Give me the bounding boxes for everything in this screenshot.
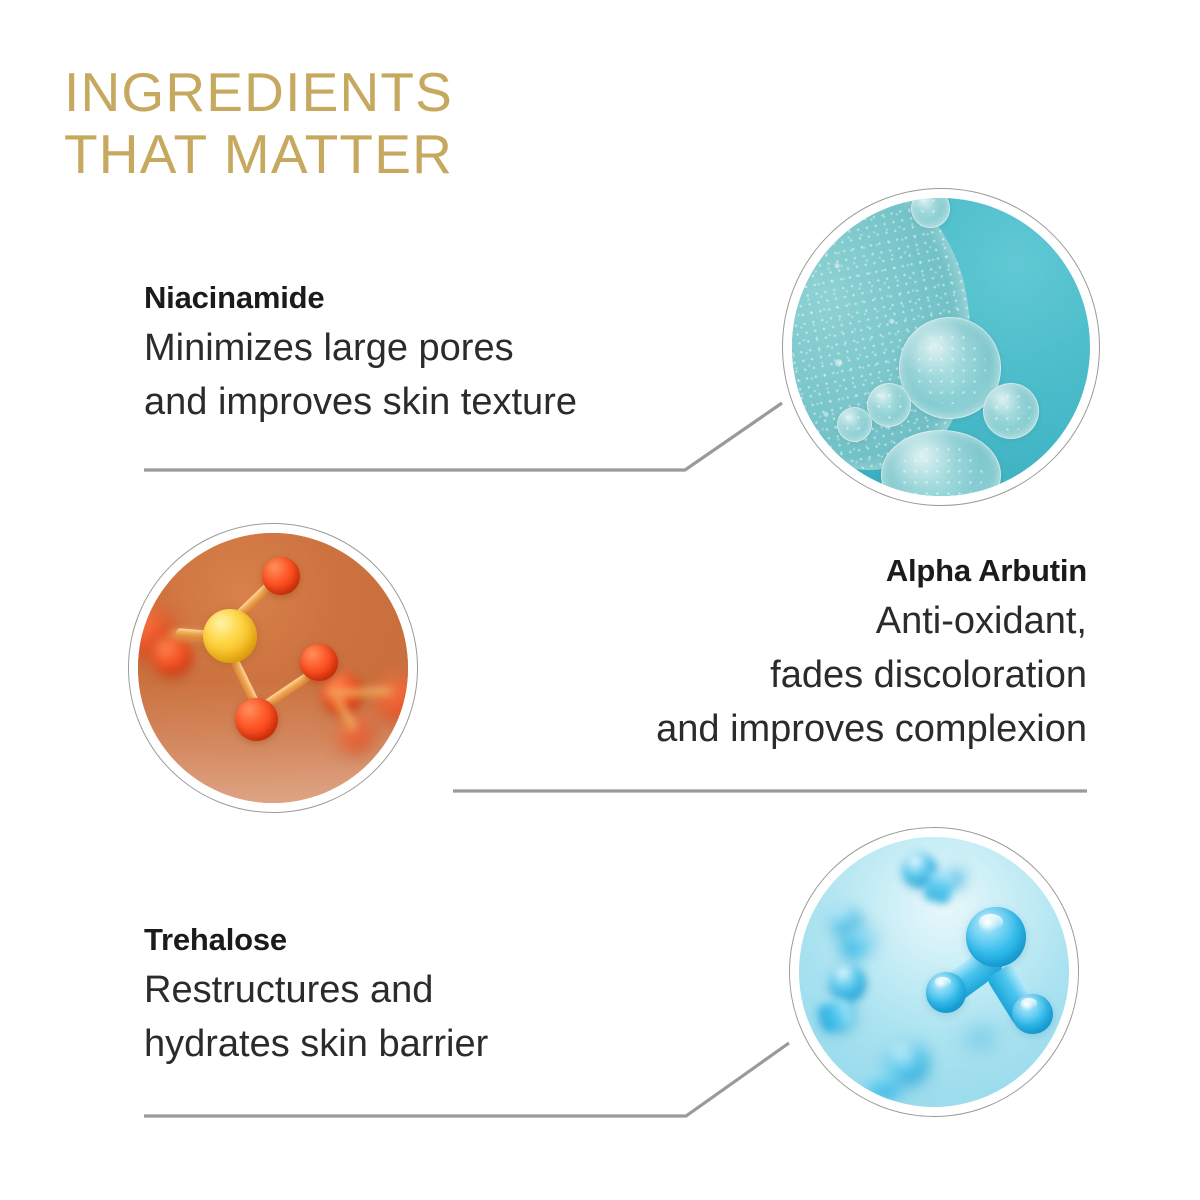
molecule-atom bbox=[300, 644, 338, 682]
molecule-atom bbox=[829, 964, 867, 1002]
ingredient-block-niacinamide: Niacinamide Minimizes large pores and im… bbox=[144, 280, 784, 430]
liquid-bubbles-macro-photo bbox=[792, 198, 1090, 496]
molecule-atom bbox=[966, 907, 1025, 966]
ingredient-name: Alpha Arbutin bbox=[427, 553, 1087, 589]
ingredient-name: Niacinamide bbox=[144, 280, 784, 316]
ingredients-infographic: INGREDIENTS THAT MATTER Niacinamide Mini… bbox=[0, 0, 1200, 1200]
molecule-atom bbox=[262, 557, 300, 595]
molecule-atom bbox=[235, 698, 278, 741]
ingredient-description: Restructures and hydrates skin barrier bbox=[144, 964, 764, 1072]
ingredient-description: Minimizes large pores and improves skin … bbox=[144, 322, 784, 430]
ingredient-image-alpha-arbutin bbox=[128, 523, 418, 813]
molecule-center-atom bbox=[203, 609, 257, 663]
molecule-atom bbox=[152, 636, 193, 677]
blue-molecule-render bbox=[799, 837, 1069, 1107]
orange-molecule-render bbox=[138, 533, 408, 803]
molecule-atom bbox=[966, 1026, 990, 1045]
ingredient-block-trehalose: Trehalose Restructures and hydrates skin… bbox=[144, 922, 764, 1072]
ingredient-block-alpha-arbutin: Alpha Arbutin Anti-oxidant, fades discol… bbox=[427, 553, 1087, 757]
ingredient-name: Trehalose bbox=[144, 922, 764, 958]
ingredient-description: Anti-oxidant, fades discoloration and im… bbox=[427, 595, 1087, 757]
ingredient-image-trehalose bbox=[789, 827, 1079, 1117]
molecule-atom bbox=[1012, 994, 1053, 1035]
molecule-atom bbox=[926, 972, 967, 1013]
ingredient-image-niacinamide bbox=[782, 188, 1100, 506]
